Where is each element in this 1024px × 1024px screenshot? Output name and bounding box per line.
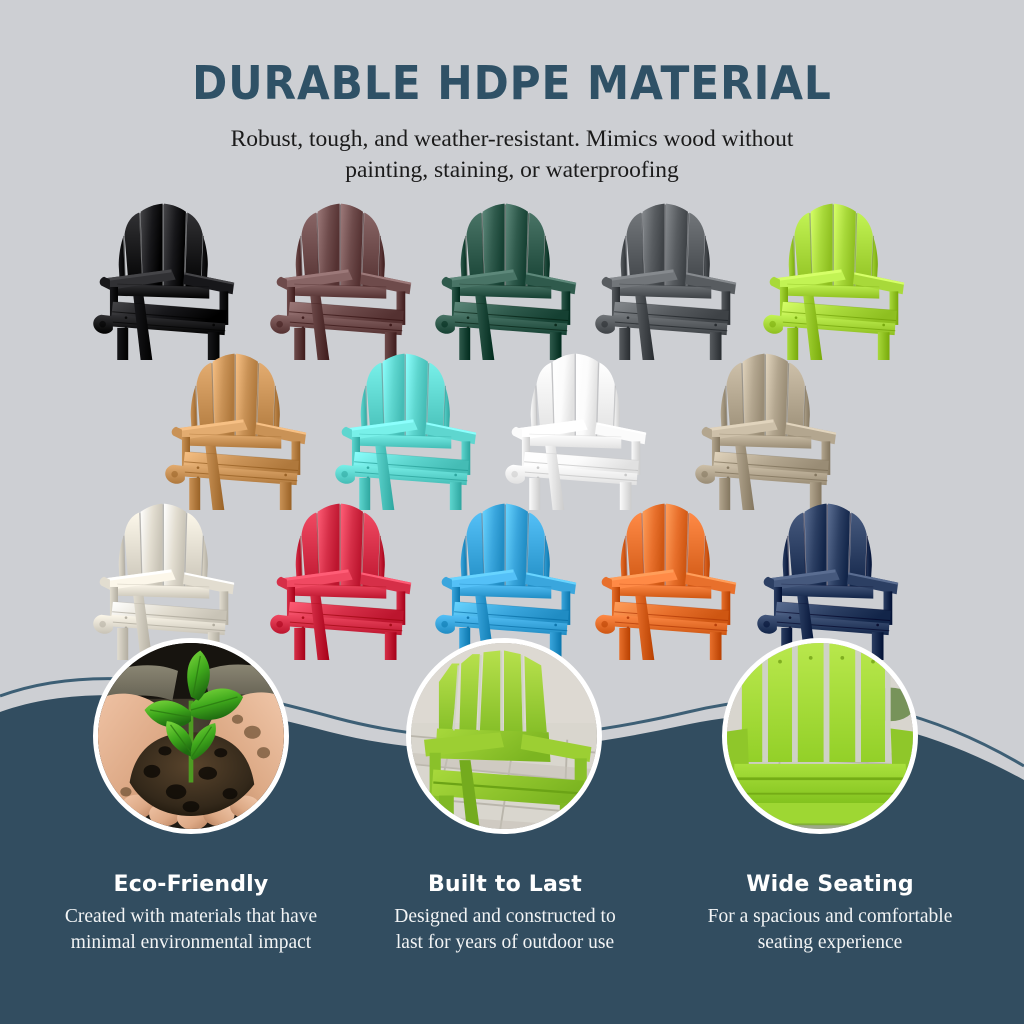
- adirondack-chair: [88, 492, 240, 660]
- feature-title: Eco-Friendly: [24, 872, 358, 897]
- adirondack-chair: [590, 492, 742, 660]
- chair-swatch-ivory[interactable]: [88, 492, 240, 660]
- adirondack-chair: [690, 342, 842, 510]
- adirondack-chair: [160, 342, 312, 510]
- chair-swatch-weathered-wood[interactable]: [690, 342, 842, 510]
- adirondack-chair: [430, 492, 582, 660]
- feature-desc-line-2: minimal environmental impact: [24, 930, 358, 956]
- feature-image-eco-friendly: [93, 638, 289, 834]
- hands-holding-seedling-in-soil-icon: [98, 643, 284, 829]
- feature-description: For a spacious and comfortable seating e…: [660, 904, 1000, 956]
- chair-swatch-red[interactable]: [265, 492, 417, 660]
- adirondack-chair: [590, 192, 742, 360]
- chair-swatch-blue[interactable]: [430, 492, 582, 660]
- feature-image-built-to-last: [406, 638, 602, 834]
- lime-green-chair-wide-seat-closeup-icon: [727, 643, 913, 829]
- adirondack-chair: [430, 192, 582, 360]
- feature-desc-line-1: Created with materials that have: [24, 904, 358, 930]
- page-title: DURABLE HDPE MATERIAL: [41, 56, 983, 110]
- chair-swatch-gray[interactable]: [590, 192, 742, 360]
- adirondack-chair: [500, 342, 652, 510]
- chair-swatch-turquoise[interactable]: [330, 342, 482, 510]
- adirondack-chair: [265, 492, 417, 660]
- feature-wide-seating: Wide Seating For a spacious and comforta…: [660, 872, 1000, 956]
- chair-swatch-orange[interactable]: [590, 492, 742, 660]
- feature-description: Designed and constructed to last for yea…: [345, 904, 665, 956]
- chair-swatch-dark-green[interactable]: [430, 192, 582, 360]
- adirondack-chair: [88, 192, 240, 360]
- subtitle-line-2: painting, staining, or waterproofing: [0, 155, 1024, 186]
- lime-green-chair-on-patio-icon: [411, 643, 597, 829]
- feature-description: Created with materials that have minimal…: [24, 904, 358, 956]
- feature-desc-line-1: Designed and constructed to: [345, 904, 665, 930]
- adirondack-chair: [330, 342, 482, 510]
- feature-eco-friendly: Eco-Friendly Created with materials that…: [24, 872, 358, 956]
- feature-title: Built to Last: [345, 872, 665, 897]
- subtitle-line-1: Robust, tough, and weather-resistant. Mi…: [0, 124, 1024, 155]
- adirondack-chair: [758, 192, 910, 360]
- feature-desc-line-2: last for years of outdoor use: [345, 930, 665, 956]
- feature-built-to-last: Built to Last Designed and constructed t…: [345, 872, 665, 956]
- adirondack-chair: [752, 492, 904, 660]
- feature-title: Wide Seating: [660, 872, 1000, 897]
- adirondack-chair: [265, 192, 417, 360]
- chair-swatch-brown[interactable]: [265, 192, 417, 360]
- chair-swatch-black[interactable]: [88, 192, 240, 360]
- feature-desc-line-1: For a spacious and comfortable: [660, 904, 1000, 930]
- chair-swatch-white[interactable]: [500, 342, 652, 510]
- chair-swatch-lime-green[interactable]: [758, 192, 910, 360]
- chair-color-grid: [0, 192, 1024, 652]
- page-subtitle: Robust, tough, and weather-resistant. Mi…: [0, 124, 1024, 186]
- infographic-page: DURABLE HDPE MATERIAL Robust, tough, and…: [0, 0, 1024, 1024]
- feature-image-wide-seating: [722, 638, 918, 834]
- chair-swatch-navy-blue[interactable]: [752, 492, 904, 660]
- feature-desc-line-2: seating experience: [660, 930, 1000, 956]
- chair-swatch-teak[interactable]: [160, 342, 312, 510]
